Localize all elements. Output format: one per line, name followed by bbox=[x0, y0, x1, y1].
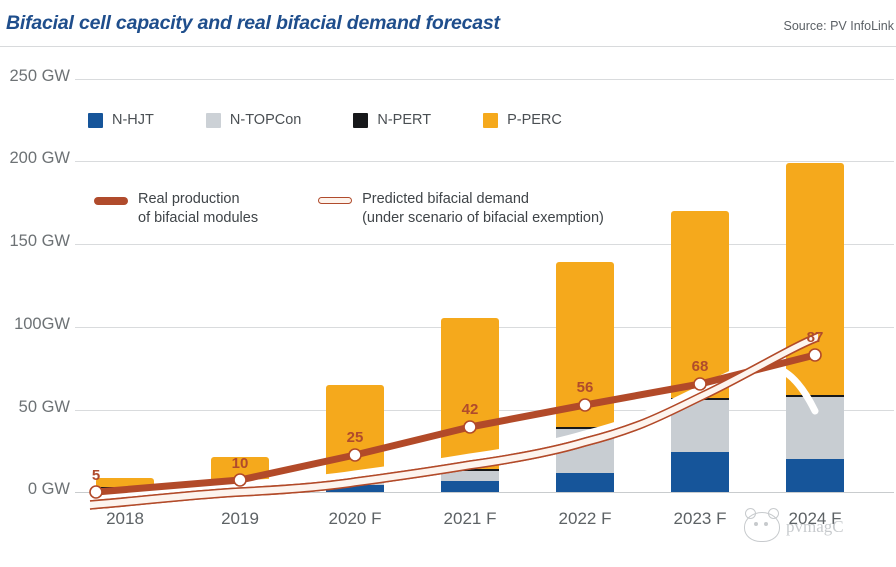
bar-2023[interactable] bbox=[671, 211, 729, 492]
legend-label-line1: Predicted bifacial demand bbox=[362, 191, 529, 207]
legend-item-npert[interactable]: N-PERT bbox=[353, 112, 431, 128]
legend-swatch-ntopcon-icon bbox=[206, 113, 221, 128]
xtick-2022: 2022 F bbox=[530, 509, 640, 529]
data-label-2018: 5 bbox=[66, 467, 126, 484]
ytick-200: 200 GW bbox=[0, 149, 70, 168]
bar-segment-nhjt bbox=[326, 485, 384, 492]
ytick-150: 150 GW bbox=[0, 232, 70, 251]
xtick-2023: 2023 F bbox=[645, 509, 755, 529]
line-legend: Real production of bifacial modules Pred… bbox=[94, 190, 664, 227]
data-label-2021: 42 bbox=[440, 401, 500, 418]
chart-container: Bifacial cell capacity and real bifacial… bbox=[0, 0, 896, 567]
cat-ear-left-icon bbox=[745, 508, 756, 519]
legend-item-nhjt[interactable]: N-HJT bbox=[88, 112, 154, 128]
series-legend: N-HJT N-TOPCon N-PERT P-PERC bbox=[88, 112, 614, 128]
legend-item-predicted-demand[interactable]: Predicted bifacial demand (under scenari… bbox=[318, 190, 604, 227]
bar-segment-nhjt bbox=[96, 490, 154, 492]
solid-line-icon bbox=[94, 197, 128, 205]
data-label-2022: 56 bbox=[555, 379, 615, 396]
xtick-2020: 2020 F bbox=[300, 509, 410, 529]
data-label-2023: 68 bbox=[670, 358, 730, 375]
hollow-line-icon bbox=[318, 197, 352, 204]
plot-area: 250 GW 200 GW 150 GW 100GW 50 GW 0 GW bbox=[0, 0, 896, 567]
legend-swatch-nhjt-icon bbox=[88, 113, 103, 128]
bar-segment-nhjt bbox=[441, 481, 499, 492]
legend-label-predicted-demand: Predicted bifacial demand (under scenari… bbox=[362, 190, 604, 227]
data-label-2020: 25 bbox=[325, 429, 385, 446]
watermark-text: pvmagC bbox=[786, 517, 844, 537]
bar-segment-ntopcon bbox=[441, 471, 499, 481]
bar-segment-nhjt bbox=[671, 452, 729, 492]
cat-face-icon bbox=[744, 512, 780, 542]
legend-label-pperc: P-PERC bbox=[507, 112, 562, 128]
bar-2022[interactable] bbox=[556, 262, 614, 492]
gridline-150 bbox=[75, 244, 894, 245]
ytick-0: 0 GW bbox=[0, 480, 70, 499]
bar-segment-ntopcon bbox=[671, 400, 729, 452]
legend-label-npert: N-PERT bbox=[377, 112, 431, 128]
xtick-2019: 2019 bbox=[185, 509, 295, 529]
gridline-200 bbox=[75, 161, 894, 162]
ytick-250: 250 GW bbox=[0, 67, 70, 86]
legend-label-line2: (under scenario of bifacial exemption) bbox=[362, 210, 604, 226]
watermark: pvmagC bbox=[744, 512, 844, 542]
legend-item-real-production[interactable]: Real production of bifacial modules bbox=[94, 190, 258, 227]
bar-segment-nhjt bbox=[556, 473, 614, 492]
bar-segment-ntopcon bbox=[556, 429, 614, 473]
legend-swatch-npert-icon bbox=[353, 113, 368, 128]
gridline-250 bbox=[75, 79, 894, 80]
legend-label-real-production: Real production of bifacial modules bbox=[138, 190, 258, 227]
bar-segment-ntopcon bbox=[786, 397, 844, 459]
bar-segment-nhjt bbox=[786, 459, 844, 492]
legend-label-ntopcon: N-TOPCon bbox=[230, 112, 301, 128]
xtick-2021: 2021 F bbox=[415, 509, 525, 529]
data-label-2019: 10 bbox=[210, 455, 270, 472]
cat-ear-right-icon bbox=[768, 508, 779, 519]
legend-item-pperc[interactable]: P-PERC bbox=[483, 112, 562, 128]
legend-label-nhjt: N-HJT bbox=[112, 112, 154, 128]
legend-swatch-pperc-icon bbox=[483, 113, 498, 128]
gridline-0 bbox=[75, 492, 894, 493]
bar-segment-nhjt bbox=[211, 487, 269, 492]
ytick-100: 100GW bbox=[0, 315, 70, 334]
data-label-2024: 87 bbox=[785, 329, 845, 346]
bar-2024[interactable] bbox=[786, 163, 844, 492]
bar-segment-pperc bbox=[556, 262, 614, 427]
legend-label-line1: Real production bbox=[138, 191, 240, 207]
xtick-2018: 2018 bbox=[70, 509, 180, 529]
ytick-50: 50 GW bbox=[0, 398, 70, 417]
bar-segment-pperc bbox=[786, 163, 844, 395]
legend-item-ntopcon[interactable]: N-TOPCon bbox=[206, 112, 301, 128]
bar-segment-pperc bbox=[441, 318, 499, 469]
legend-label-line2: of bifacial modules bbox=[138, 210, 258, 226]
